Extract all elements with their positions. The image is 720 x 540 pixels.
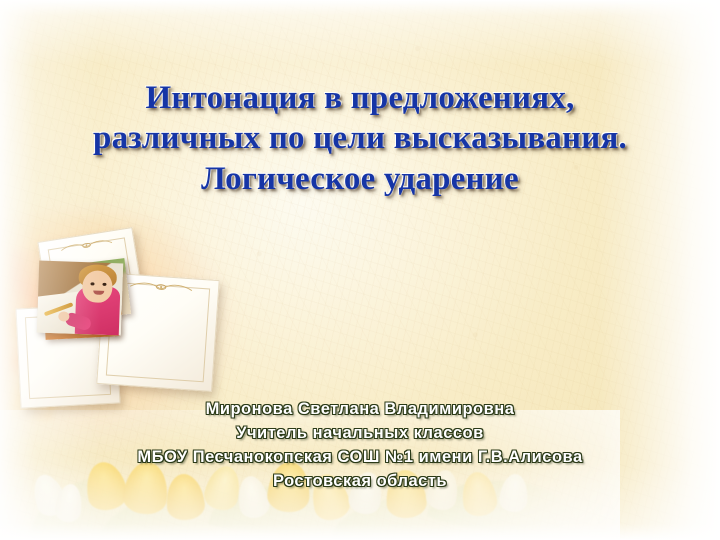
title-line-3: Логическое ударение	[0, 159, 720, 199]
title-line-2: различных по цели высказывания.	[0, 118, 720, 158]
title-line-1: Интонация в предложениях,	[0, 78, 720, 118]
slide-title: Интонация в предложениях, различных по ц…	[0, 78, 720, 199]
author-name: Миронова Светлана Владимировна	[0, 398, 720, 422]
presentation-title-slide: Интонация в предложениях, различных по ц…	[0, 0, 720, 540]
author-school: МБОУ Песчанокопская СОШ №1 имени Г.В.Али…	[0, 446, 720, 470]
author-region: Ростовская область	[0, 470, 720, 494]
author-position: Учитель начальных классов	[0, 422, 720, 446]
author-block: Миронова Светлана Владимировна Учитель н…	[0, 398, 720, 494]
